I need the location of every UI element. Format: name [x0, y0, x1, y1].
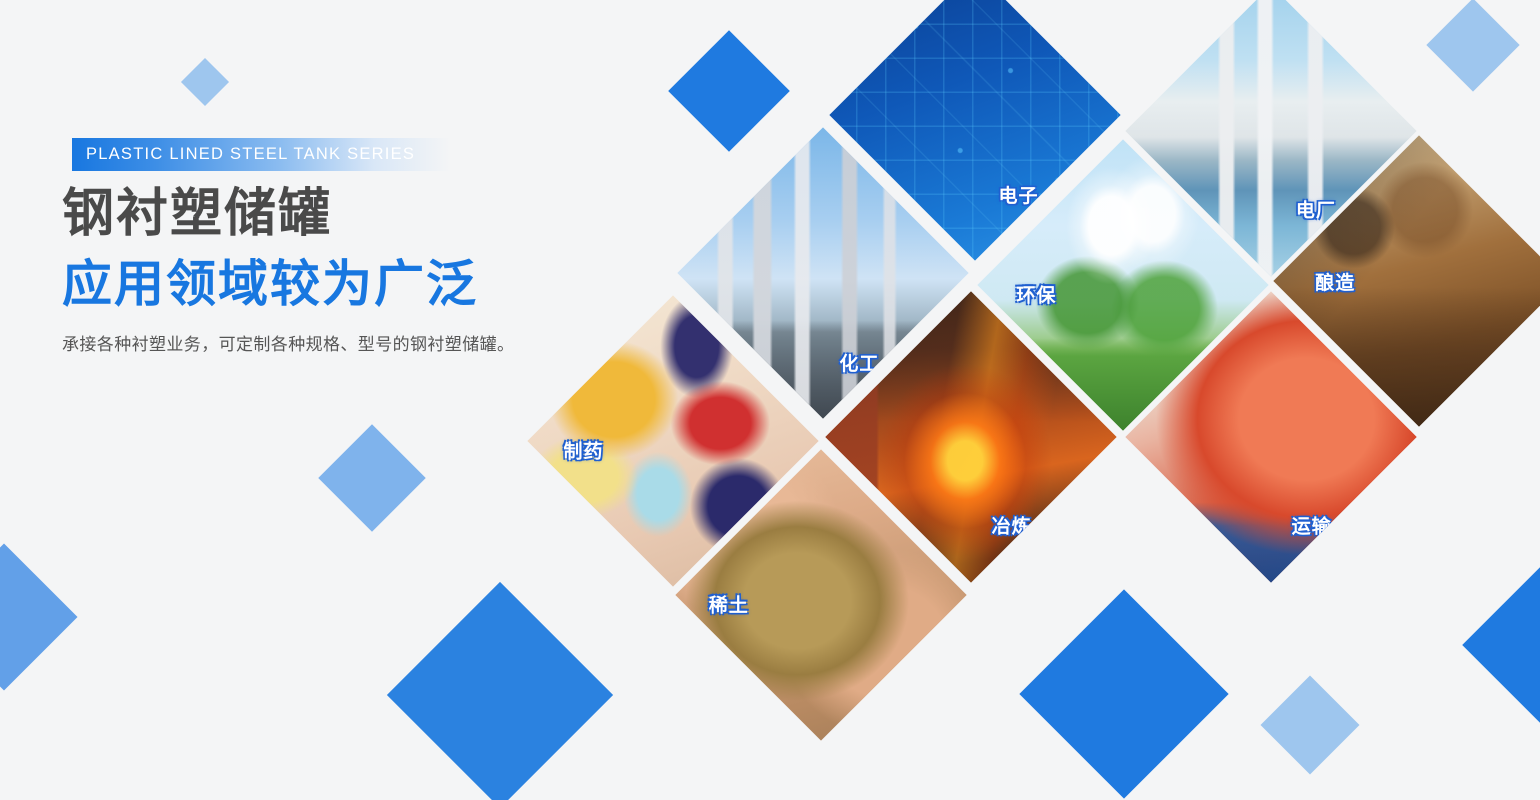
page-description: 承接各种衬塑业务，可定制各种规格、型号的钢衬塑储罐。	[62, 330, 514, 355]
eyebrow-text: PLASTIC LINED STEEL TANK SERIES	[72, 145, 415, 164]
promo-banner: 电子 电厂 化工 环保 酿造 制药 冶炼 运	[0, 0, 1540, 800]
eyebrow-banner: PLASTIC LINED STEEL TANK SERIES	[72, 138, 450, 171]
page-subtitle: 应用领域较为广泛	[62, 256, 478, 312]
industry-diamond-grid: 电子 电厂 化工 环保 酿造 制药 冶炼 运	[0, 0, 1540, 800]
page-title: 钢衬塑储罐	[62, 185, 332, 243]
